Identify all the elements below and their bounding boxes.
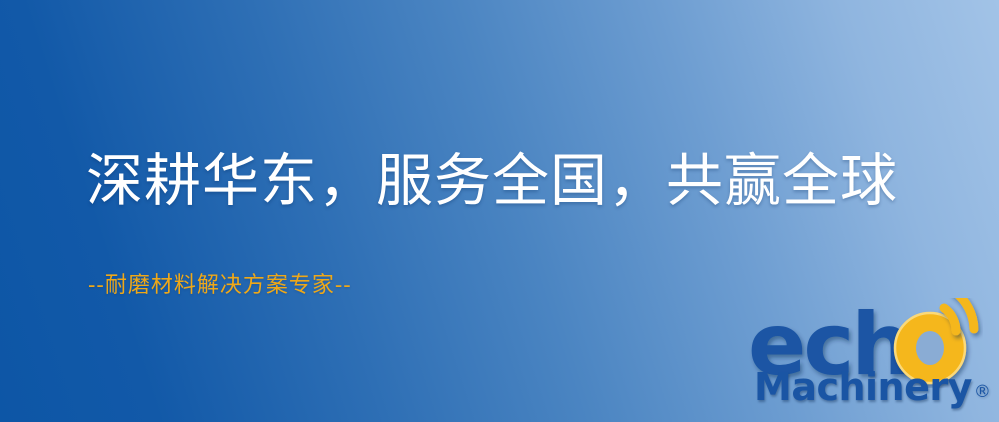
banner-headline: 深耕华东，服务全国，共赢全球 bbox=[86, 152, 898, 212]
logo-wordmark: Machinery ® bbox=[754, 368, 999, 416]
company-logo: ech Machinery ® bbox=[748, 298, 999, 422]
banner-subtitle: --耐磨材料解决方案专家-- bbox=[88, 267, 352, 299]
promotional-banner: 深耕华东，服务全国，共赢全球 --耐磨材料解决方案专家-- ech bbox=[0, 0, 999, 422]
registered-trademark-icon: ® bbox=[974, 384, 991, 401]
logo-wordmark-text: Machinery bbox=[754, 368, 972, 406]
